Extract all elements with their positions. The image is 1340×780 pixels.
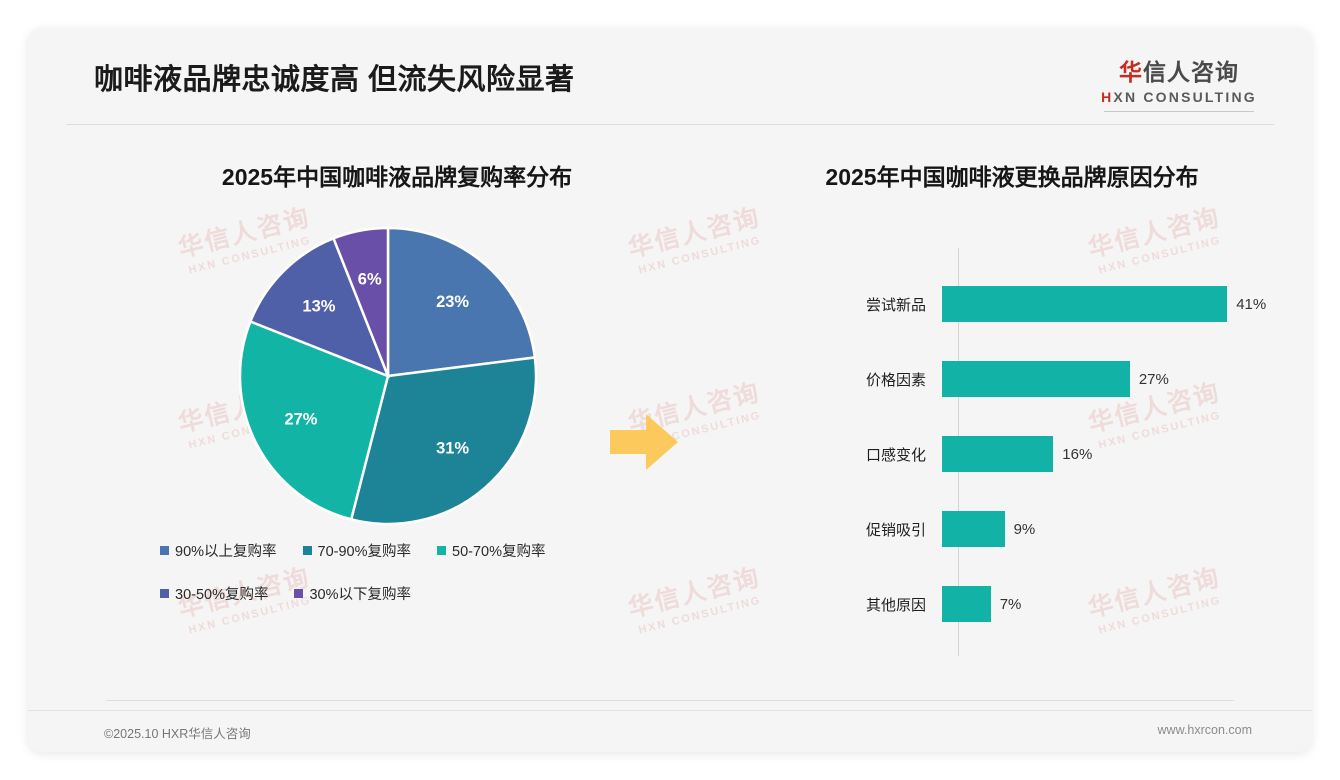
bar-track: 27% xyxy=(942,361,1288,397)
pie-chart-area: 23%31%27%13%6% xyxy=(88,226,688,526)
bar-fill[interactable] xyxy=(942,511,1005,547)
pie-chart-title: 2025年中国咖啡液品牌复购率分布 xyxy=(88,158,688,192)
bar-value-label: 7% xyxy=(1000,596,1022,613)
legend-item[interactable]: 50-70%复购率 xyxy=(437,540,545,561)
legend-swatch-icon xyxy=(160,546,169,555)
bar-track: 7% xyxy=(942,586,1288,622)
slide-footer: ©2025.10 HXR华信人咨询 www.hxrcon.com xyxy=(28,710,1312,752)
legend-swatch-icon xyxy=(294,589,303,598)
bar-value-label: 9% xyxy=(1014,521,1036,538)
legend-label: 90%以上复购率 xyxy=(175,540,277,561)
bar-chart-panel: 2025年中国咖啡液更换品牌原因分布 尝试新品41%价格因素27%口感变化16%… xyxy=(728,158,1288,668)
bar-value-label: 27% xyxy=(1139,371,1169,388)
pie-chart-svg: 23%31%27%13%6% xyxy=(238,226,538,526)
legend-label: 30-50%复购率 xyxy=(175,583,268,604)
pie-chart-legend: 90%以上复购率70-90%复购率50-70%复购率30-50%复购率30%以下… xyxy=(88,540,688,604)
bar-fill[interactable] xyxy=(942,586,991,622)
pie-slice-label: 23% xyxy=(436,293,469,311)
bar-track: 9% xyxy=(942,511,1288,547)
slide-header: 咖啡液品牌忠诚度高 但流失风险显著 华信人咨询 HXN CONSULTING xyxy=(28,28,1312,124)
legend-item[interactable]: 90%以上复购率 xyxy=(160,540,277,561)
bar-track: 41% xyxy=(942,286,1288,322)
pie-slice-label: 13% xyxy=(302,297,335,315)
legend-swatch-icon xyxy=(303,546,312,555)
legend-label: 30%以下复购率 xyxy=(309,583,411,604)
bar-row: 口感变化16% xyxy=(728,436,1288,472)
pie-slice-label: 6% xyxy=(358,270,382,288)
legend-swatch-icon xyxy=(437,546,446,555)
arrow-right-icon xyxy=(606,406,682,478)
pie-slice-label: 27% xyxy=(284,411,317,429)
bar-row: 价格因素27% xyxy=(728,361,1288,397)
logo-cn-accent: 华 xyxy=(1119,59,1143,85)
legend-item[interactable]: 30-50%复购率 xyxy=(160,583,268,604)
bar-row: 其他原因7% xyxy=(728,586,1288,622)
legend-label: 50-70%复购率 xyxy=(452,540,545,561)
pie-chart-panel: 2025年中国咖啡液品牌复购率分布 23%31%27%13%6% 90%以上复购… xyxy=(88,158,688,626)
bar-value-label: 16% xyxy=(1062,446,1092,463)
page-title: 咖啡液品牌忠诚度高 但流失风险显著 xyxy=(94,56,575,98)
copyright-text: ©2025.10 HXR华信人咨询 xyxy=(104,723,251,742)
logo-en-rest: XN CONSULTING xyxy=(1113,89,1256,105)
logo-chinese-name: 华信人咨询 xyxy=(1090,58,1268,87)
logo-underline xyxy=(1104,111,1254,112)
legend-row: 30-50%复购率30%以下复购率 xyxy=(160,583,688,604)
website-text: www.hxrcon.com xyxy=(1158,723,1252,737)
legend-label: 70-90%复购率 xyxy=(318,540,411,561)
bar-chart-title: 2025年中国咖啡液更换品牌原因分布 xyxy=(728,158,1288,192)
bar-category-label: 促销吸引 xyxy=(728,519,942,540)
logo-en-accent: H xyxy=(1101,89,1113,105)
slide-frame: 咖啡液品牌忠诚度高 但流失风险显著 华信人咨询 HXN CONSULTING 华… xyxy=(28,28,1312,752)
pie-slice-label: 31% xyxy=(436,440,469,458)
bar-category-label: 尝试新品 xyxy=(728,294,942,315)
bar-track: 16% xyxy=(942,436,1288,472)
legend-row: 90%以上复购率70-90%复购率50-70%复购率 xyxy=(160,540,688,561)
legend-item[interactable]: 30%以下复购率 xyxy=(294,583,411,604)
bar-fill[interactable] xyxy=(942,361,1130,397)
bar-row: 促销吸引9% xyxy=(728,511,1288,547)
source-divider xyxy=(106,700,1234,701)
bar-row: 尝试新品41% xyxy=(728,286,1288,322)
legend-item[interactable]: 70-90%复购率 xyxy=(303,540,411,561)
bar-fill[interactable] xyxy=(942,286,1227,322)
logo-cn-rest: 信人咨询 xyxy=(1143,59,1239,85)
legend-swatch-icon xyxy=(160,589,169,598)
logo-english-name: HXN CONSULTING xyxy=(1090,87,1268,108)
bar-category-label: 其他原因 xyxy=(728,594,942,615)
header-divider xyxy=(66,124,1274,125)
bar-value-label: 41% xyxy=(1236,296,1266,313)
company-logo: 华信人咨询 HXN CONSULTING xyxy=(1090,58,1268,112)
bar-fill[interactable] xyxy=(942,436,1053,472)
bar-chart-area: 尝试新品41%价格因素27%口感变化16%促销吸引9%其他原因7% xyxy=(728,248,1288,668)
bar-category-label: 价格因素 xyxy=(728,369,942,390)
bar-category-label: 口感变化 xyxy=(728,444,942,465)
